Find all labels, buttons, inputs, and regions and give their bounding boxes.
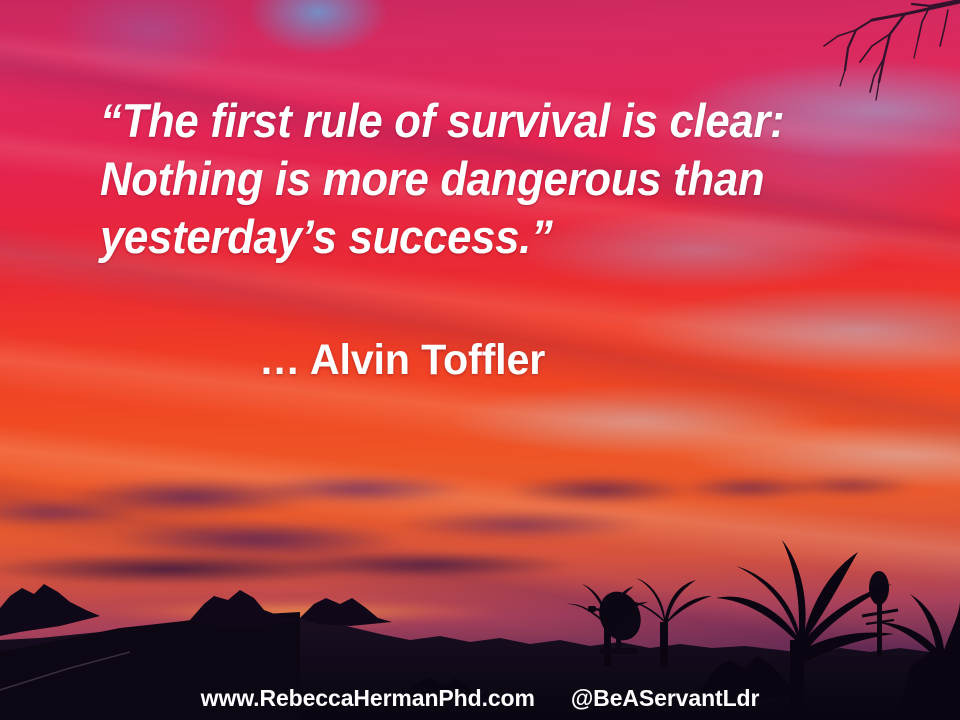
horizon-glow [40, 595, 560, 629]
quote-slide: “The first rule of survival is clear: No… [0, 0, 960, 720]
quote-text: “The first rule of survival is clear: No… [100, 92, 825, 266]
quote-attribution: … Alvin Toffler [259, 336, 545, 385]
footer-website[interactable]: www.RebeccaHermanPhd.com [201, 685, 535, 712]
footer-social-handle[interactable]: @BeAServantLdr [571, 685, 759, 712]
footer-bar: www.RebeccaHermanPhd.com @BeAServantLdr [0, 681, 960, 715]
cloud-bank-right [480, 440, 960, 550]
